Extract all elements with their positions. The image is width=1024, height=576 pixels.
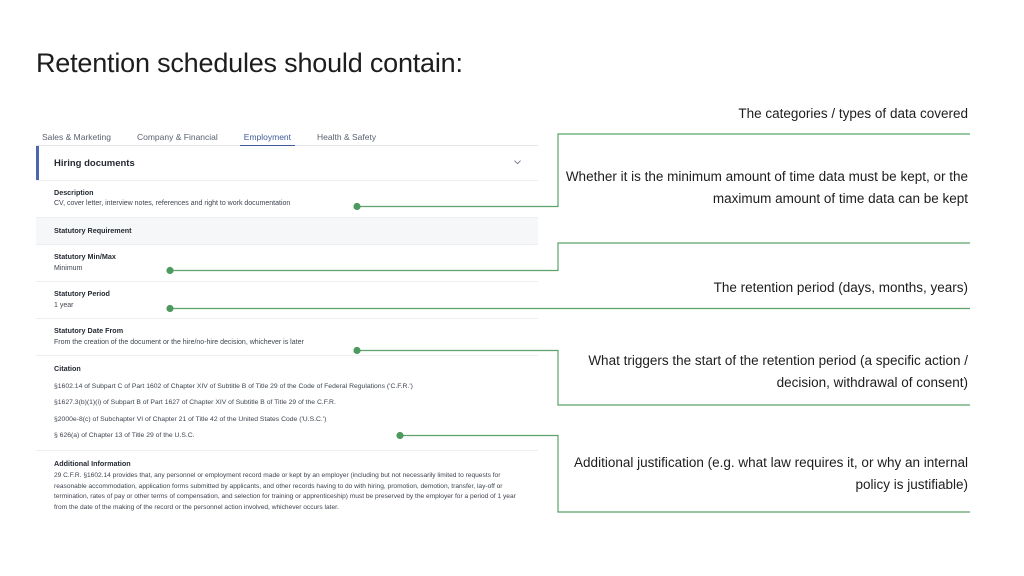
annotation-retention-period: The retention period (days, months, year… bbox=[554, 277, 968, 299]
field-row-statutory-min-max: Statutory Min/Max Minimum bbox=[36, 245, 538, 282]
field-label: Additional Information bbox=[54, 459, 524, 469]
field-row-citation: Citation §1602.14 of Subpart C of Part 1… bbox=[36, 356, 538, 451]
citation-line: §1602.14 of Subpart C of Part 1602 of Ch… bbox=[54, 382, 538, 392]
annotation-minimum-maximum-time: Whether it is the minimum amount of time… bbox=[554, 166, 968, 210]
field-label: Citation bbox=[54, 364, 538, 374]
field-row-statutory-date-from: Statutory Date From From the creation of… bbox=[36, 319, 538, 356]
section-header-label: Statutory Requirement bbox=[54, 226, 538, 236]
field-label: Statutory Date From bbox=[54, 326, 538, 336]
page-title: Retention schedules should contain: bbox=[36, 48, 463, 79]
chevron-down-icon[interactable] bbox=[513, 158, 522, 167]
tab-employment[interactable]: Employment bbox=[244, 133, 291, 146]
field-row-additional-information: Additional Information 29 C.F.R. §1602.1… bbox=[36, 451, 538, 524]
citation-line: § 626(a) of Chapter 13 of Title 29 of th… bbox=[54, 431, 538, 441]
field-label: Statutory Min/Max bbox=[54, 252, 538, 262]
field-value: 1 year bbox=[54, 301, 538, 312]
citation-line: §2000e-8(c) of Subchapter VI of Chapter … bbox=[54, 415, 538, 425]
retention-schedule-card: Sales & Marketing Company & Financial Em… bbox=[36, 124, 538, 524]
category-tab-bar: Sales & Marketing Company & Financial Em… bbox=[36, 124, 538, 146]
field-label: Statutory Period bbox=[54, 289, 538, 299]
field-value: 29 C.F.R. §1602.14 provides that, any pe… bbox=[54, 471, 524, 514]
tab-sales-marketing[interactable]: Sales & Marketing bbox=[42, 133, 111, 146]
tab-company-financial[interactable]: Company & Financial bbox=[137, 133, 218, 146]
field-label: Description bbox=[54, 188, 538, 198]
citation-line: §1627.3(b)(1)(i) of Subpart B of Part 16… bbox=[54, 398, 538, 408]
annotation-categories-of-data: The categories / types of data covered bbox=[554, 103, 968, 125]
annotation-retention-trigger: What triggers the start of the retention… bbox=[554, 350, 968, 394]
accordion-header-hiring-documents[interactable]: Hiring documents bbox=[36, 146, 538, 181]
tab-health-safety[interactable]: Health & Safety bbox=[317, 133, 376, 146]
annotation-additional-justification: Additional justification (e.g. what law … bbox=[554, 452, 968, 496]
field-row-statutory-period: Statutory Period 1 year bbox=[36, 282, 538, 319]
field-value: Minimum bbox=[54, 264, 538, 275]
field-value: CV, cover letter, interview notes, refer… bbox=[54, 199, 538, 210]
field-value: From the creation of the document or the… bbox=[54, 338, 538, 349]
accordion-title: Hiring documents bbox=[54, 158, 135, 169]
accordion-accent-bar bbox=[36, 146, 39, 180]
field-row-description: Description CV, cover letter, interview … bbox=[36, 181, 538, 218]
field-row-statutory-requirement: Statutory Requirement bbox=[36, 218, 538, 245]
